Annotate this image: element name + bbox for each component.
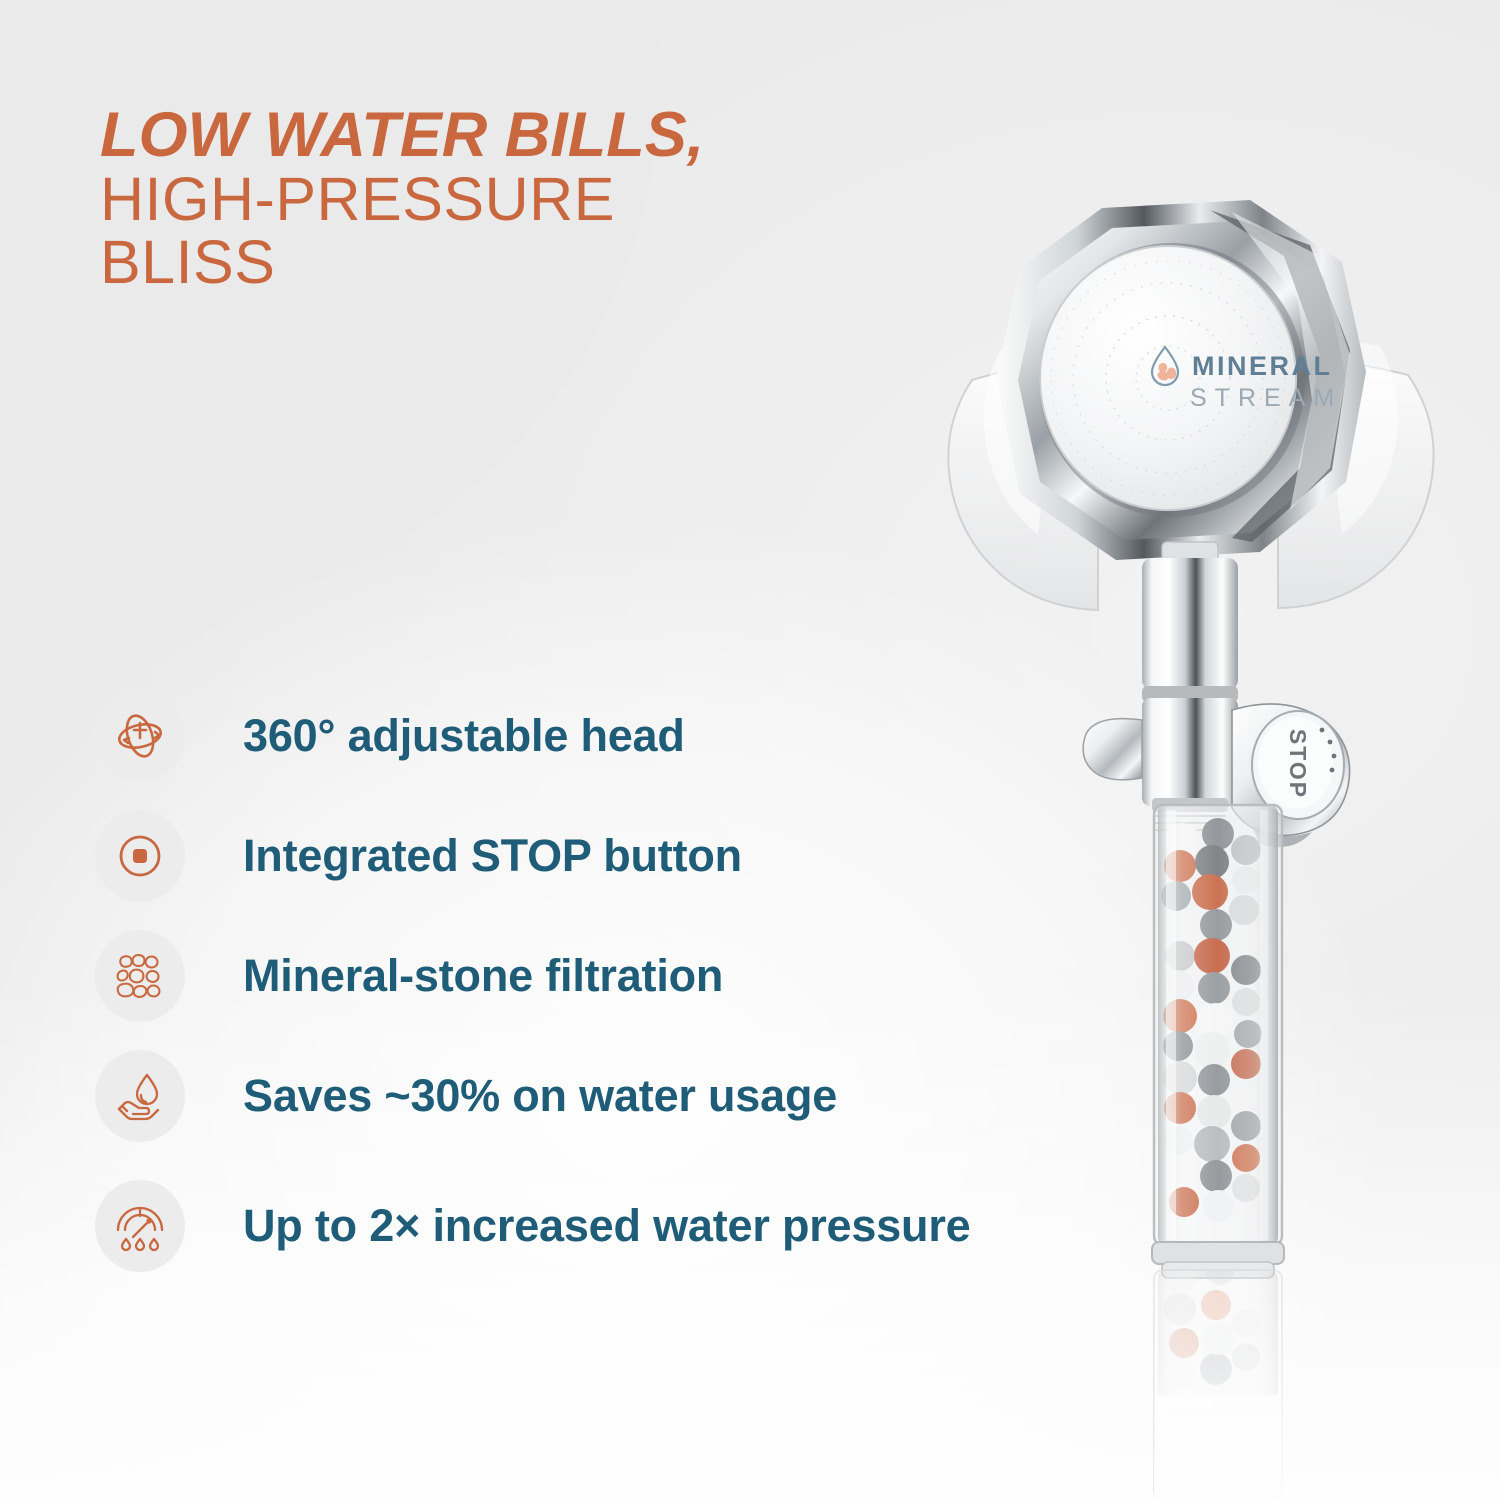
feature-label: Up to 2× increased water pressure <box>243 1200 970 1251</box>
mineral-stones-icon <box>95 930 185 1022</box>
rotate-360-icon <box>95 690 185 782</box>
feature-label: Saves ~30% on water usage <box>243 1070 837 1121</box>
mineral-filter-chamber <box>1152 805 1284 1278</box>
stop-button-icon <box>95 810 185 902</box>
shower-head-side-stub <box>1083 719 1142 780</box>
shower-head-neck <box>1142 542 1238 806</box>
headline-line-2: HIGH-PRESSURE <box>100 168 740 231</box>
product-image: STOP <box>880 150 1500 1500</box>
headline-line-1: LOW WATER BILLS, <box>100 103 740 168</box>
hand-water-drop-icon <box>95 1050 185 1142</box>
stop-lever-label: STOP <box>1285 729 1311 799</box>
feature-label: Integrated STOP button <box>243 830 742 881</box>
page-title: LOW WATER BILLS, HIGH-PRESSURE BLISS <box>100 103 740 294</box>
pressure-gauge-icon <box>95 1180 185 1272</box>
feature-label: 360° adjustable head <box>243 710 685 761</box>
feature-label: Mineral-stone filtration <box>243 950 723 1001</box>
shower-head-spray-face <box>1039 243 1305 517</box>
headline-line-3: BLISS <box>100 231 740 294</box>
